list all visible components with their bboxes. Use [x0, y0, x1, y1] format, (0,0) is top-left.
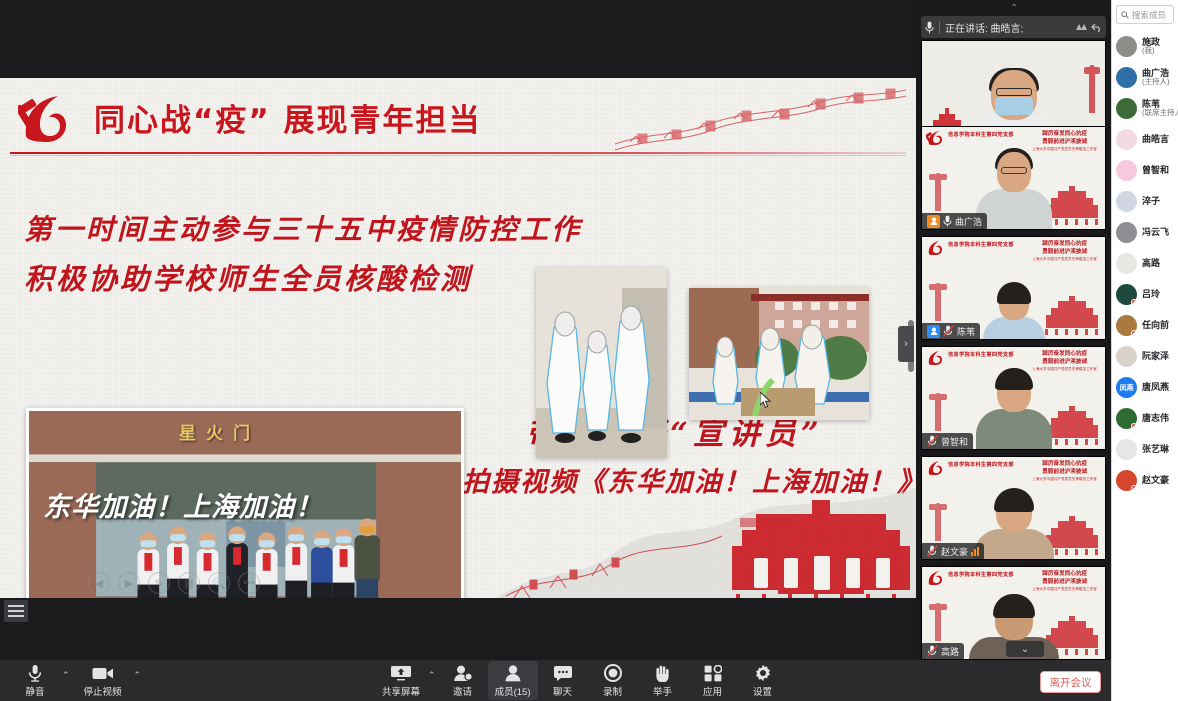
tile-bg-title: 信息学院本科生第四党支部 — [948, 461, 1014, 468]
pen-tool-button[interactable]: ✎ — [148, 572, 170, 594]
participant-text: 曾智和 — [1142, 165, 1169, 175]
active-speaker-bar: 正在讲话: 曲皓言; — [921, 16, 1106, 38]
avatar — [1116, 67, 1137, 88]
notes-line — [8, 605, 24, 607]
chat-bubble-icon — [553, 664, 573, 682]
participant-text: 任向前 — [1142, 320, 1169, 330]
avatar — [1116, 408, 1137, 429]
participants-list[interactable]: 施政(我)曲广浩(主持人)陈苇(联席主持人)曲皓言曾智和淬子冯云飞高路吕玲任向前… — [1112, 31, 1178, 496]
tile-nametag: 赵文豪 — [922, 543, 984, 559]
tile-participant-name: 陈苇 — [957, 325, 975, 338]
tile-participant-name: 高路 — [941, 645, 959, 658]
tile-bg-sub: 上海大学中国共产党党员先锋模范工作室 — [1032, 257, 1097, 262]
prev-slide-button[interactable]: ◀ — [88, 572, 110, 594]
avatar — [1116, 191, 1137, 212]
tile-nametag: 曲广浩 — [922, 213, 987, 229]
apps-grid-icon — [704, 664, 722, 682]
avatar — [1116, 36, 1137, 57]
gate-sign-text: 星火门 — [179, 419, 260, 444]
invite-person-icon — [453, 664, 473, 682]
tile-bg-slogan: 踔厉奋发同心抗疫勇毅前进沪渎披诚 上海大学中国共产党党员先锋模范工作室 — [1032, 240, 1097, 262]
slide-overview-button[interactable]: ▦ — [178, 572, 200, 594]
back-arrow-icon[interactable] — [1091, 22, 1102, 33]
stop-video-label: 停止视频 — [84, 684, 122, 698]
video-tile[interactable]: 信息学院本科生第四党支部 踔厉奋发同心抗疫勇毅前进沪渎披诚 上海大学中国共产党党… — [921, 236, 1106, 340]
group-photo-overlay-text: 东华加油！上海加油！ — [43, 485, 323, 524]
share-screen-button[interactable]: 共享屏幕 — [374, 661, 428, 700]
tile-bg-slogan: 踔厉奋发同心抗疫勇毅前进沪渎披诚 上海大学中国共产党党员先锋模范工作室 — [1032, 570, 1097, 592]
tile-bg-pillar — [1083, 65, 1101, 117]
avatar — [1116, 129, 1137, 150]
participant-text: 淬子 — [1142, 196, 1160, 206]
participant-name: 曲皓言 — [1142, 134, 1169, 144]
gallery-scroll-up-icon[interactable]: ⌃ — [1010, 3, 1018, 14]
status-dot — [1131, 423, 1137, 429]
participant-row[interactable]: 曾智和 — [1112, 155, 1178, 186]
microphone-muted-icon — [927, 435, 938, 447]
share-screen-label: 共享屏幕 — [382, 684, 420, 698]
status-dot — [1131, 485, 1137, 491]
tile-nametag: 曾智和 — [922, 433, 973, 449]
participant-text: 曲皓言 — [1142, 134, 1169, 144]
gear-icon — [754, 664, 772, 682]
raise-hand-icon — [654, 664, 671, 682]
participant-name: 淬子 — [1142, 196, 1160, 206]
participant-row[interactable]: 冯云飞 — [1112, 217, 1178, 248]
notes-line — [8, 610, 24, 612]
tile-bg-slogan: 踔厉奋发同心抗疫勇毅前进沪渎披诚 上海大学中国共产党党员先锋模范工作室 — [1032, 350, 1097, 372]
tile-bg-pillar — [927, 503, 949, 543]
video-tile[interactable]: 信息学院本科生第四党支部 踔厉奋发同心抗疫勇毅前进沪渎披诚 上海大学中国共产党党… — [921, 456, 1106, 560]
status-dot — [1131, 330, 1137, 336]
tile-bg-slogan: 踔厉奋发同心抗疫勇毅前进沪渎披诚 上海大学中国共产党党员先锋模范工作室 — [1032, 460, 1097, 482]
participant-row[interactable]: 陈苇(联席主持人) — [1112, 93, 1178, 124]
avatar — [1116, 222, 1137, 243]
share-screen-icon — [390, 664, 412, 682]
settings-button[interactable]: 设置 — [738, 661, 788, 700]
toolbar-right-background — [1111, 660, 1178, 701]
hammer-sickle-emblem-icon — [926, 460, 944, 475]
ppe-testing-illustration — [689, 288, 869, 420]
participant-row[interactable]: 淬子 — [1112, 186, 1178, 217]
mute-button[interactable]: 静音 — [10, 661, 60, 700]
video-tile[interactable]: 信息学院本科生第四党支部 踔厉奋发同心抗疫勇毅前进沪渎披诚 上海大学中国共产党党… — [921, 346, 1106, 450]
participant-row[interactable]: 曲广浩(主持人) — [1112, 62, 1178, 93]
ppe-workers-illustration — [536, 268, 667, 458]
more-options-button[interactable]: ••• — [238, 572, 260, 594]
hammer-sickle-emblem-icon — [926, 240, 944, 255]
microphone-icon — [943, 215, 952, 227]
participant-row[interactable]: 唐志伟 — [1112, 403, 1178, 434]
tile-bg-title: 信息学院本科生第四党支部 — [948, 571, 1014, 578]
tile-bg-tiananmen — [1043, 185, 1101, 225]
volume-indicator-icon — [971, 547, 979, 556]
participant-name: 吕玲 — [1142, 289, 1160, 299]
search-icon — [1121, 11, 1129, 19]
settings-label: 设置 — [753, 684, 772, 698]
tile-bg-tiananmen — [1043, 295, 1101, 335]
gallery-view-icon[interactable] — [1075, 22, 1088, 33]
participants-label: 成员(15) — [495, 684, 531, 698]
participant-name: 阮家泽 — [1142, 351, 1169, 361]
tile-nametag: 高路 — [922, 643, 964, 659]
participant-row[interactable]: 凤燕唐凤燕 — [1112, 372, 1178, 403]
participant-row[interactable]: 阮家泽 — [1112, 341, 1178, 372]
great-wall-decoration — [610, 84, 910, 156]
mouse-cursor — [760, 392, 771, 408]
avatar — [1116, 470, 1137, 491]
video-options-chevron-icon[interactable]: ⌃ — [134, 670, 142, 681]
participant-name: 唐凤燕 — [1142, 382, 1169, 392]
hammer-sickle-emblem-icon — [18, 92, 72, 142]
participants-button[interactable]: 成员(15) — [488, 661, 538, 700]
leave-meeting-button[interactable]: 离开会议 — [1040, 671, 1101, 693]
slide-line-2: 积极协助学校师生全员核酸检测 — [24, 256, 472, 298]
tile-participant-name: 曲广浩 — [955, 215, 982, 228]
hammer-sickle-emblem-icon — [926, 350, 944, 365]
participant-row[interactable]: 施政(我) — [1112, 31, 1178, 62]
speak-bar-divider — [939, 21, 940, 34]
participant-name: 冯云飞 — [1142, 227, 1169, 237]
slide-notes-icon[interactable] — [4, 600, 28, 622]
avatar — [1116, 284, 1137, 305]
active-speaker-text: 正在讲话: 曲皓言; — [945, 20, 1070, 35]
participant-role: (主持人) — [1142, 78, 1170, 87]
chat-button[interactable]: 聊天 — [538, 661, 588, 700]
video-camera-icon — [92, 664, 114, 682]
search-members-input[interactable]: 搜索成员 — [1116, 5, 1174, 24]
tiananmen-mountain-decoration — [496, 448, 916, 598]
participant-name: 张艺琳 — [1142, 444, 1169, 454]
stop-video-button[interactable]: 停止视频 — [74, 661, 132, 700]
apps-button[interactable]: 应用 — [688, 661, 738, 700]
tile-participant-name: 赵文豪 — [941, 545, 968, 558]
avatar — [1116, 98, 1137, 119]
participant-text: 陈苇(联席主持人) — [1142, 99, 1178, 118]
participant-text: 赵文豪 — [1142, 475, 1169, 485]
tile-bg-pillar — [927, 283, 949, 323]
participant-row[interactable]: 吕玲 — [1112, 279, 1178, 310]
meeting-toolbar[interactable]: 静音 ⌃ 停止视频 ⌃ — [0, 660, 1111, 701]
slide-line-1: 第一时间主动参与三十五中疫情防控工作 — [24, 208, 582, 248]
gallery-layout-icons[interactable] — [1075, 22, 1102, 33]
record-circle-icon — [604, 664, 622, 682]
participant-text: 吕玲 — [1142, 289, 1160, 299]
participant-text: 唐凤燕 — [1142, 382, 1169, 392]
participant-name: 赵文豪 — [1142, 475, 1169, 485]
collapse-gallery-handle[interactable]: › — [898, 326, 914, 362]
microphone-icon — [925, 21, 934, 34]
participant-text: 曲广浩(主持人) — [1142, 68, 1170, 87]
shared-screen-area[interactable]: 同心战“疫” 展现青年担当 第一时间主动参与三十五中疫情防控工作 积极协助学校师… — [0, 0, 916, 660]
tile-bg-slogan: 踔厉奋发同心抗疫勇毅前进沪渎披诚 上海大学中国共产党党员先锋模范工作室 — [1032, 130, 1097, 152]
toolbar-left-group[interactable]: 静音 ⌃ 停止视频 ⌃ — [10, 661, 143, 700]
zoom-slide-button[interactable]: 🔍 — [208, 572, 230, 594]
participant-role: (我) — [1142, 47, 1160, 56]
participant-text: 张艺琳 — [1142, 444, 1169, 454]
microphone-muted-icon — [943, 325, 954, 337]
video-gallery[interactable]: ⌃ 正在讲话: 曲皓言; — [916, 0, 1111, 660]
participant-name: 任向前 — [1142, 320, 1169, 330]
tile-bg-title: 信息学院本科生第四党支部 — [948, 131, 1014, 138]
photo-student-group: 星火门 东华加油！上海加油！ — [26, 408, 464, 598]
participants-icon — [503, 664, 523, 682]
microphone-muted-icon — [927, 645, 938, 657]
tile-participant-name: 曾智和 — [941, 435, 968, 448]
avatar: 凤燕 — [1116, 377, 1137, 398]
mute-label: 静音 — [25, 684, 44, 698]
gallery-scroll-down-button[interactable]: ⌄ — [1006, 641, 1044, 657]
tile-bg-pillar — [927, 393, 949, 433]
photo-ppe-indoor — [536, 268, 667, 458]
avatar — [1116, 253, 1137, 274]
participant-role: (联席主持人) — [1142, 109, 1178, 118]
zoom-meeting-window: 同心战“疫” 展现青年担当 第一时间主动参与三十五中疫情防控工作 积极协助学校师… — [0, 0, 1178, 701]
tile-bg-tiananmen — [1043, 405, 1101, 445]
photo-ppe-outdoor — [689, 288, 869, 420]
slide-title: 同心战“疫” 展现青年担当 — [94, 95, 482, 140]
status-dot — [1131, 299, 1137, 305]
host-badge-icon — [927, 215, 940, 228]
avatar — [1116, 315, 1137, 336]
title-divider-shadow — [10, 155, 906, 156]
presentation-slide[interactable]: 同心战“疫” 展现青年担当 第一时间主动参与三十五中疫情防控工作 积极协助学校师… — [0, 78, 916, 598]
participant-row[interactable]: 高路 — [1112, 248, 1178, 279]
raise-hand-label: 举手 — [653, 684, 672, 698]
tile-bg-title: 信息学院本科生第四党支部 — [948, 351, 1014, 358]
cohost-badge-icon — [927, 325, 940, 338]
tile-bg-pillar — [927, 603, 949, 643]
invite-label: 邀请 — [453, 684, 472, 698]
participant-name: 唐志伟 — [1142, 413, 1169, 423]
record-button[interactable]: 录制 — [588, 661, 638, 700]
slide-title-row: 同心战“疫” 展现青年担当 — [18, 92, 482, 142]
participant-row[interactable]: 任向前 — [1112, 310, 1178, 341]
title-divider — [10, 152, 906, 154]
participant-text: 冯云飞 — [1142, 227, 1169, 237]
apps-label: 应用 — [703, 684, 722, 698]
microphone-icon — [28, 664, 42, 682]
participant-text: 阮家泽 — [1142, 351, 1169, 361]
next-slide-button[interactable]: ▶ — [118, 572, 140, 594]
toolbar-center-group[interactable]: 共享屏幕 ⌃ 邀请 — [374, 661, 788, 700]
participant-text: 高路 — [1142, 258, 1160, 268]
raise-hand-button[interactable]: 举手 — [638, 661, 688, 700]
video-tile[interactable]: 信息学院本科生第四党支部 踔厉奋发同心抗疫勇毅前进沪渎披诚 上海大学中国共产党党… — [921, 126, 1106, 230]
participant-row[interactable]: 赵文豪 — [1112, 465, 1178, 496]
invite-button[interactable]: 邀请 — [438, 661, 488, 700]
microphone-muted-icon — [927, 545, 938, 557]
notes-line — [8, 615, 24, 617]
participant-text: 施政(我) — [1142, 37, 1160, 56]
participant-name: 高路 — [1142, 258, 1160, 268]
participant-row[interactable]: 张艺琳 — [1112, 434, 1178, 465]
tile-bg-title: 信息学院本科生第四党支部 — [948, 241, 1014, 248]
powerpoint-slide-controls[interactable]: ◀ ▶ ✎ ▦ 🔍 ••• — [88, 572, 260, 594]
chat-label: 聊天 — [553, 684, 572, 698]
tile-nametag: 陈苇 — [922, 323, 980, 339]
avatar — [1116, 160, 1137, 181]
participant-row[interactable]: 曲皓言 — [1112, 124, 1178, 155]
hammer-sickle-emblem-icon — [926, 570, 944, 585]
participant-name: 曾智和 — [1142, 165, 1169, 175]
participants-panel[interactable]: 搜索成员 施政(我)曲广浩(主持人)陈苇(联席主持人)曲皓言曾智和淬子冯云飞高路… — [1111, 0, 1178, 660]
participant-text: 唐志伟 — [1142, 413, 1169, 423]
audio-options-chevron-icon[interactable]: ⌃ — [62, 670, 70, 681]
tile-bg-pillar — [927, 173, 949, 213]
record-label: 录制 — [603, 684, 622, 698]
hammer-sickle-emblem-icon — [926, 130, 944, 145]
share-options-chevron-icon[interactable]: ⌃ — [428, 670, 436, 681]
tile-bg-sub: 上海大学中国共产党党员先锋模范工作室 — [1032, 587, 1097, 592]
avatar — [1116, 439, 1137, 460]
search-placeholder: 搜索成员 — [1132, 9, 1166, 21]
avatar — [1116, 346, 1137, 367]
tile-bg-sub: 上海大学中国共产党党员先锋模范工作室 — [1032, 477, 1097, 482]
avatar-initials: 凤燕 — [1116, 377, 1137, 398]
